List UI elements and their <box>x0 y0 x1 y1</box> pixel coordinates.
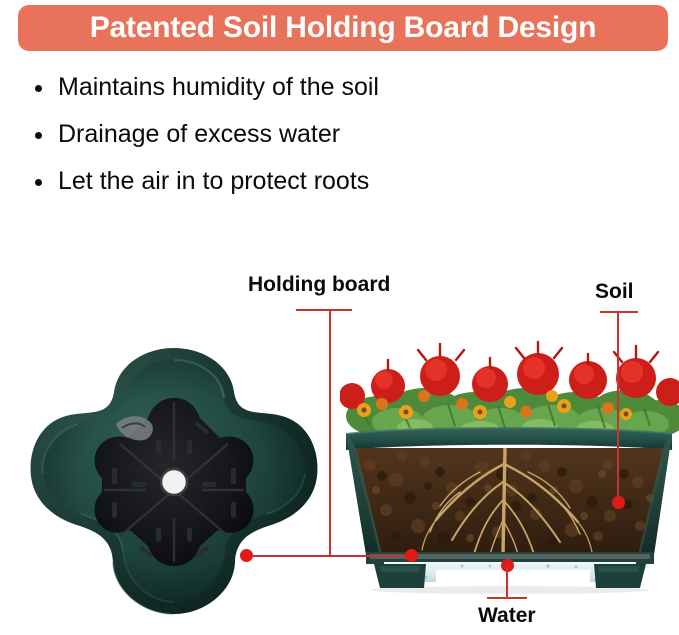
feature-text: Let the air in to protect roots <box>58 167 369 195</box>
holding-board-leader-left <box>249 555 330 557</box>
holding-board-leader-right <box>329 555 414 557</box>
quatrefoil-planter-top-view-image <box>24 340 324 630</box>
holding-board-leader-stem <box>329 310 331 557</box>
feature-list: Maintains humidity of the soil Drainage … <box>30 72 530 213</box>
soil-marker-dot <box>612 496 625 509</box>
feature-text: Drainage of excess water <box>58 120 340 148</box>
holding-board-marker-dot-left <box>240 549 253 562</box>
list-item: Let the air in to protect roots <box>30 166 530 197</box>
bullet-icon <box>35 132 42 139</box>
list-item: Drainage of excess water <box>30 119 530 150</box>
list-item: Maintains humidity of the soil <box>30 72 530 103</box>
holding-board-leader-bar <box>296 309 352 311</box>
soil-leader-stem <box>617 312 619 503</box>
callout-label-soil: Soil <box>595 280 634 304</box>
holding-board-marker-dot-right <box>405 549 418 562</box>
water-leader-bar <box>487 597 527 599</box>
header-banner: Patented Soil Holding Board Design <box>18 5 668 51</box>
soil-leader-bar <box>600 311 638 313</box>
plant-foliage <box>340 342 679 439</box>
page-title: Patented Soil Holding Board Design <box>90 13 597 43</box>
water-leader-stem <box>506 566 508 599</box>
bullet-icon <box>35 179 42 186</box>
bullet-icon <box>35 85 42 92</box>
callout-label-holding-board: Holding board <box>248 273 390 297</box>
feature-text: Maintains humidity of the soil <box>58 73 379 101</box>
callout-label-water: Water <box>478 604 536 628</box>
